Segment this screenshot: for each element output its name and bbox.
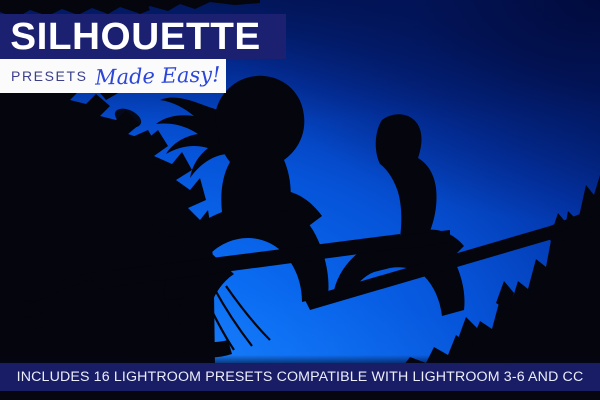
broomstick-front <box>20 230 450 365</box>
footer-banner-text: INCLUDES 16 LIGHTROOM PRESETS COMPATIBLE… <box>17 369 584 385</box>
subtitle-prefix: PRESETS <box>11 68 88 84</box>
footer-bottom-fill <box>0 391 600 400</box>
poster-root: SILHOUETTE PRESETS Made Easy! INCLUDES 1… <box>0 0 600 400</box>
page-title: SILHOUETTE <box>0 18 261 56</box>
title-band: SILHOUETTE <box>0 14 286 59</box>
footer-banner: INCLUDES 16 LIGHTROOM PRESETS COMPATIBLE… <box>0 363 600 391</box>
subtitle-script: Made Easy! <box>94 62 220 89</box>
subtitle-band: PRESETS Made Easy! <box>0 59 226 93</box>
